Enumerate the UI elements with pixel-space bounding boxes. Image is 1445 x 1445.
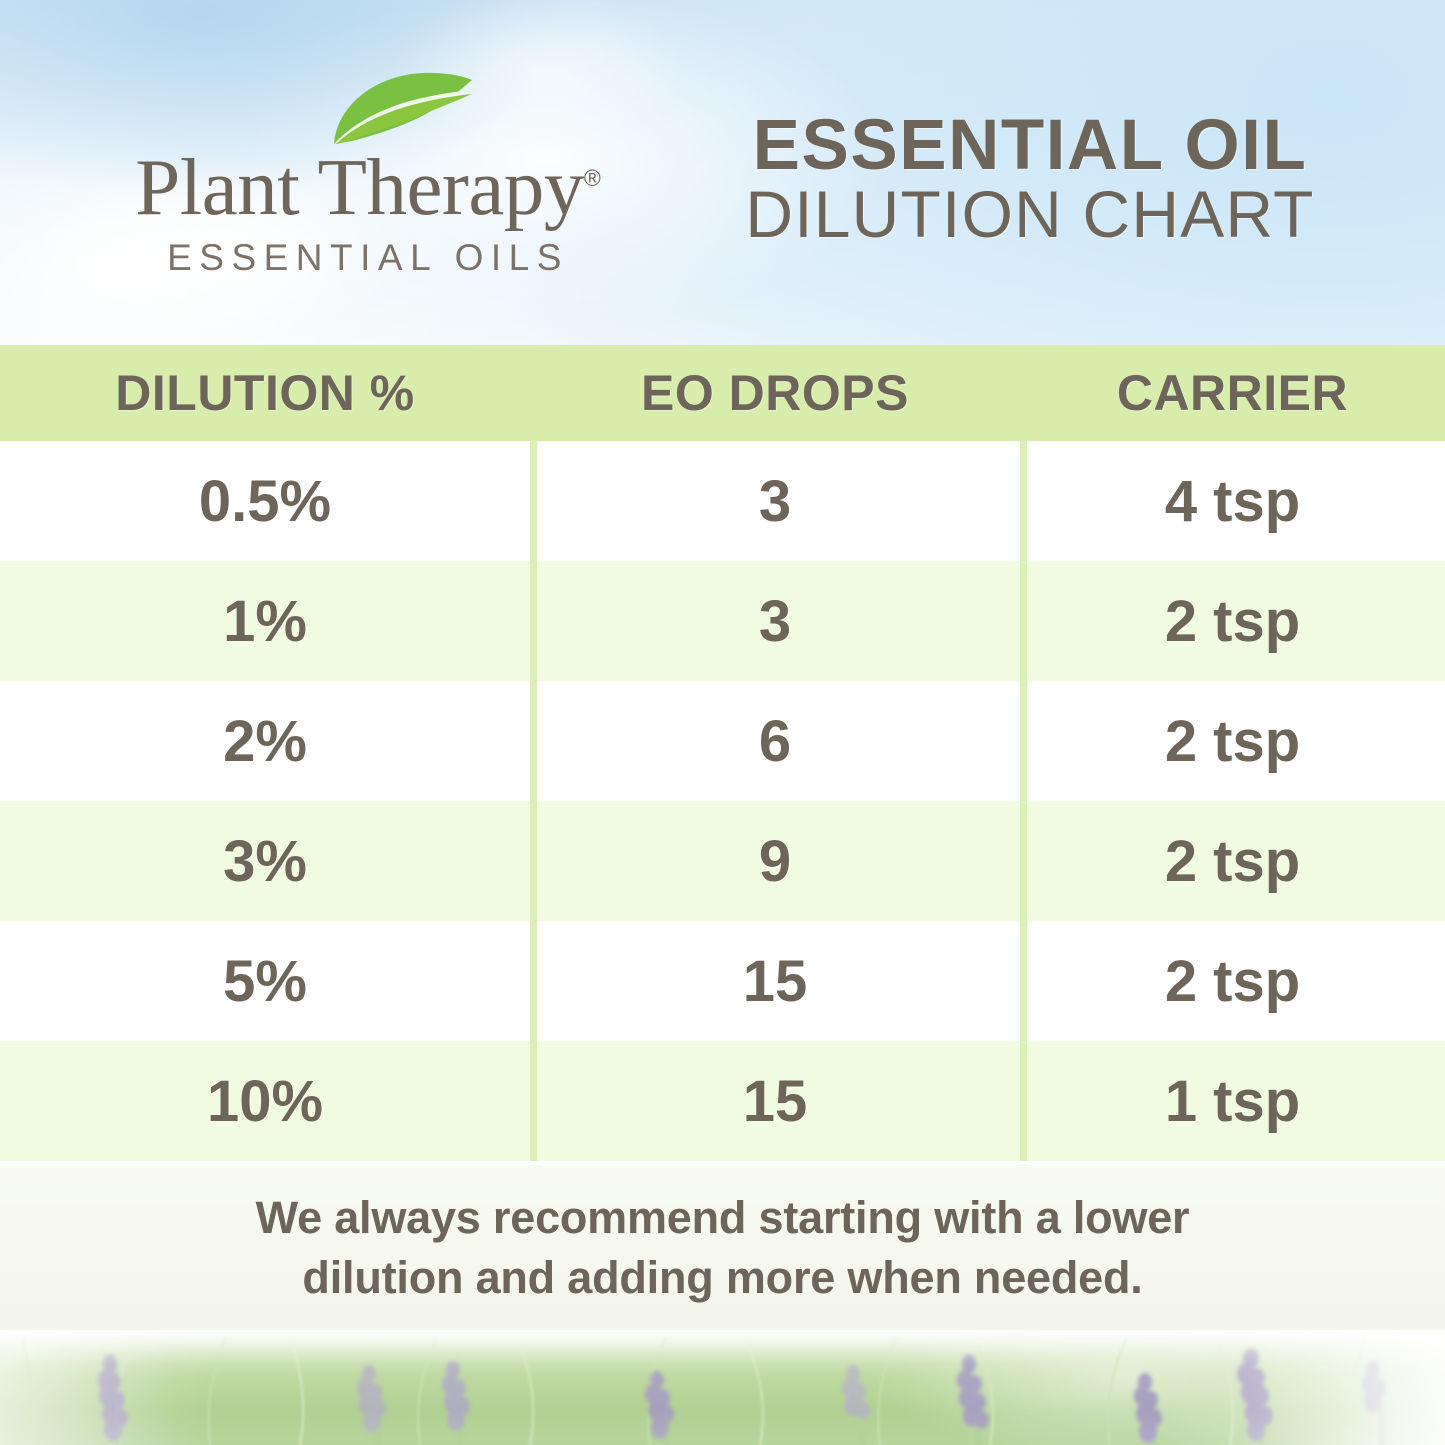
title-line-1: ESSENTIAL OIL: [700, 112, 1360, 180]
cell-carrier: 1 tsp: [1020, 1068, 1445, 1135]
cell-dilution: 0.5%: [0, 468, 530, 535]
cell-drops: 15: [530, 948, 1020, 1015]
leaf-icon-svg: [326, 70, 476, 150]
lavender-field-illustration: [0, 1330, 1445, 1445]
note-line-1: We always recommend starting with a lowe…: [256, 1188, 1190, 1247]
cell-dilution: 10%: [0, 1068, 530, 1135]
cell-drops: 9: [530, 828, 1020, 895]
cell-carrier: 4 tsp: [1020, 468, 1445, 535]
column-divider-2: [1020, 921, 1027, 1041]
column-divider-1: [530, 441, 537, 561]
brand-wordmark: Plant Therapy®: [88, 148, 648, 227]
table-row: 2% 6 2 tsp: [0, 681, 1445, 801]
table-row: 3% 9 2 tsp: [0, 801, 1445, 921]
column-header-dilution: DILUTION %: [0, 364, 530, 422]
brand-name: Plant Therapy: [135, 142, 584, 232]
cell-carrier: 2 tsp: [1020, 708, 1445, 775]
column-divider-2: [1020, 801, 1027, 921]
column-divider-2: [1020, 441, 1027, 561]
dilution-table: DILUTION % EO DROPS CARRIER 0.5% 3 4 tsp…: [0, 345, 1445, 1161]
column-header-drops: EO DROPS: [530, 364, 1020, 422]
cell-dilution: 3%: [0, 828, 530, 895]
column-divider-1: [530, 1041, 537, 1161]
registered-mark: ®: [584, 165, 601, 191]
column-divider-2: [1020, 1041, 1027, 1161]
brand-logo: Plant Therapy® ESSENTIAL OILS: [88, 70, 648, 279]
cell-drops: 3: [530, 588, 1020, 655]
cell-carrier: 2 tsp: [1020, 588, 1445, 655]
column-divider-2: [1020, 561, 1027, 681]
table-row: 1% 3 2 tsp: [0, 561, 1445, 681]
cell-carrier: 2 tsp: [1020, 828, 1445, 895]
cell-carrier: 2 tsp: [1020, 948, 1445, 1015]
cell-drops: 6: [530, 708, 1020, 775]
table-row: 0.5% 3 4 tsp: [0, 441, 1445, 561]
cell-drops: 3: [530, 468, 1020, 535]
cell-drops: 15: [530, 1068, 1020, 1135]
table-row: 5% 15 2 tsp: [0, 921, 1445, 1041]
column-divider-2: [1020, 681, 1027, 801]
table-header-row: DILUTION % EO DROPS CARRIER: [0, 345, 1445, 441]
column-divider-1: [530, 921, 537, 1041]
column-divider-1: [530, 681, 537, 801]
dilution-chart-page: Plant Therapy® ESSENTIAL OILS ESSENTIAL …: [0, 0, 1445, 1445]
column-header-carrier: CARRIER: [1020, 364, 1445, 422]
cell-dilution: 5%: [0, 948, 530, 1015]
column-divider-1: [530, 561, 537, 681]
recommendation-note: We always recommend starting with a lowe…: [0, 1165, 1445, 1330]
table-row: 10% 15 1 tsp: [0, 1041, 1445, 1161]
leaf-icon: [88, 70, 648, 148]
title-line-2: DILUTION CHART: [700, 180, 1360, 249]
page-title: ESSENTIAL OIL DILUTION CHART: [700, 112, 1360, 249]
column-divider-1: [530, 801, 537, 921]
lavender-field-photo: [0, 1330, 1445, 1445]
cell-dilution: 1%: [0, 588, 530, 655]
note-line-2: dilution and adding more when needed.: [302, 1248, 1142, 1307]
brand-tagline: ESSENTIAL OILS: [88, 237, 648, 279]
cell-dilution: 2%: [0, 708, 530, 775]
